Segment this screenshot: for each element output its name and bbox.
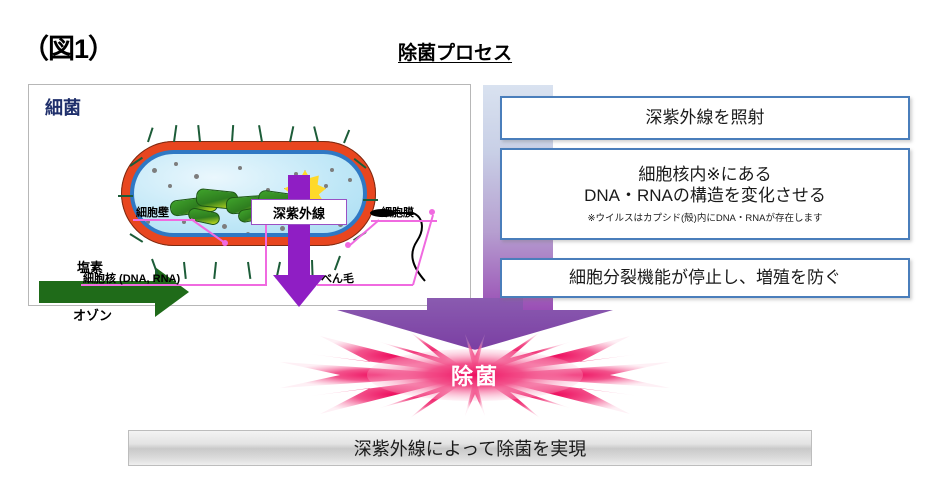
uv-beam-arrowhead: [273, 275, 325, 307]
process-step-2-footnote: ※ウイルスはカプシド(殻)内にDNA・RNAが存在します: [588, 210, 823, 224]
process-step-3: 細胞分裂機能が停止し、増殖を防ぐ: [500, 258, 910, 298]
label-cell-wall: 細胞壁: [136, 204, 169, 220]
process-step-2-line-1: 細胞核内※にある: [638, 164, 771, 185]
cell-wall-leader: [189, 215, 249, 247]
process-step-3-line-1: 細胞分裂機能が停止し、増殖を防ぐ: [569, 267, 841, 288]
sterilization-burst: 除菌: [280, 332, 670, 418]
flagellum-anchor-dot: [429, 209, 435, 215]
bacteria-diagram-panel: 細菌 塩素 オゾン: [28, 84, 471, 306]
cell-membrane-anchor-dot: [345, 242, 351, 248]
ozone-label: オゾン: [73, 305, 112, 324]
flagellum-leader: [409, 209, 439, 287]
process-step-1: 深紫外線を照射: [500, 96, 910, 140]
process-step-2-line-2: DNA・RNAの構造を変化させる: [584, 185, 826, 206]
uv-label-box: 深紫外線: [251, 199, 347, 225]
process-step-2: 細胞核内※にある DNA・RNAの構造を変化させる ※ウイルスはカプシド(殻)内…: [500, 148, 910, 240]
figure-caption: （図1）: [22, 27, 114, 66]
uv-beam: [288, 175, 310, 285]
cell-wall-anchor-dot: [222, 240, 228, 246]
bottom-summary-banner: 深紫外線によって除菌を実現: [128, 430, 812, 466]
process-step-1-line-1: 深紫外線を照射: [646, 107, 765, 128]
page-title: 除菌プロセス: [398, 38, 512, 65]
slide-canvas: （図1） 除菌プロセス 細菌 塩素 オゾン: [0, 0, 940, 501]
label-cell-membrane: 細胞膜: [381, 204, 414, 220]
burst-label: 除菌: [280, 359, 670, 391]
bacteria-panel-title: 細菌: [45, 94, 81, 120]
label-nucleus: 細胞核 (DNA, RNA): [83, 270, 180, 286]
label-flagellum: べん毛: [321, 270, 354, 286]
